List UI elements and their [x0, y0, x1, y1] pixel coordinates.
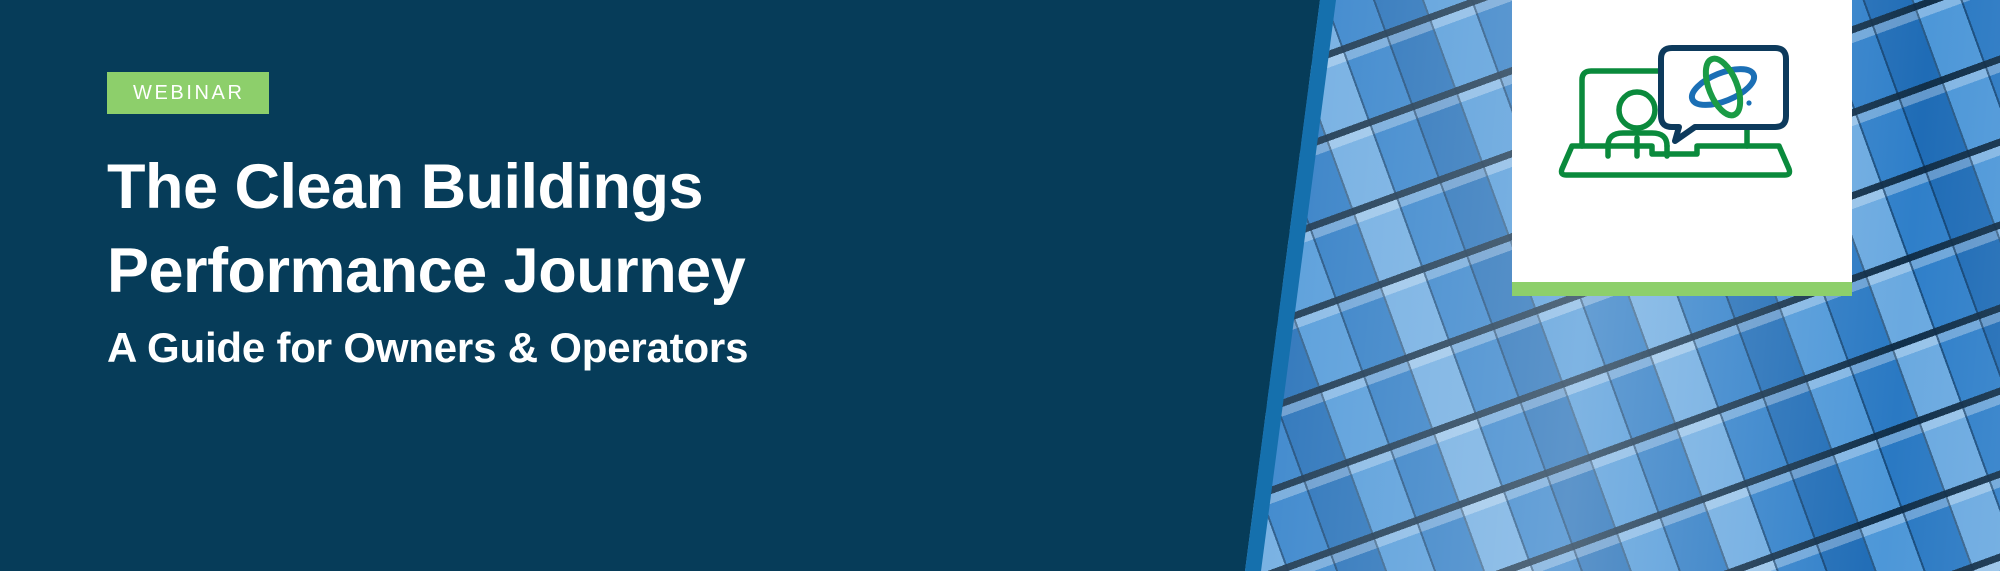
webinar-laptop-presenter-icon: [1512, 0, 1852, 282]
page-title: The Clean Buildings Performance Journey: [107, 146, 1087, 314]
webinar-promo-banner: WEBINAR The Clean Buildings Performance …: [0, 0, 2000, 571]
headline-line-2: Performance Journey: [107, 230, 1087, 314]
icon-card: [1512, 0, 1852, 282]
headline-line-1: The Clean Buildings: [107, 146, 1087, 230]
banner-content: WEBINAR The Clean Buildings Performance …: [107, 0, 1107, 571]
webinar-badge: WEBINAR: [107, 72, 269, 114]
page-subtitle: A Guide for Owners & Operators: [107, 322, 748, 375]
icon-card-accent-bar: [1512, 282, 1852, 296]
